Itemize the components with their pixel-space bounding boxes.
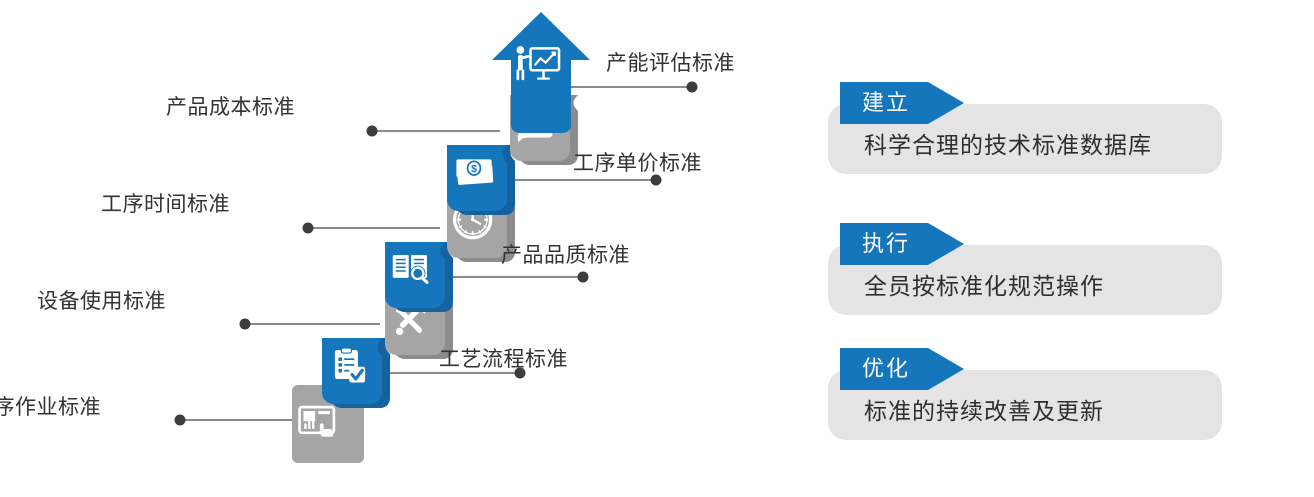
- step-label-product-cost: 产品成本标准: [166, 97, 295, 118]
- card-establish-tab: 建立: [840, 82, 964, 124]
- card-optimize-tab: 优化: [840, 348, 964, 390]
- step-label-process-flow: 工艺流程标准: [439, 349, 568, 370]
- card-establish-text: 科学合理的技术标准数据库: [864, 134, 1152, 157]
- step-label-process-unit-price: 工序单价标准: [573, 153, 702, 174]
- step-label-product-quality: 产品品质标准: [501, 245, 630, 266]
- card-establish-tab-label: 建立: [840, 82, 932, 124]
- card-execute-text: 全员按标准化规范操作: [864, 275, 1104, 298]
- step-block-product-quality: [385, 242, 453, 312]
- step-label-capacity-evaluation: 产能评估标准: [606, 53, 735, 74]
- card-optimize-tab-label: 优化: [840, 348, 932, 390]
- step-label-process-operation: 工序作业标准: [0, 397, 101, 418]
- step-label-process-time: 工序时间标准: [101, 194, 230, 215]
- phases-panel: 建立 科学合理的技术标准数据库 执行 全员按标准化规范操作 优化 标准的持续改善…: [828, 0, 1314, 497]
- standards-staircase-diagram: $: [0, 0, 800, 497]
- step-block-process-unit-price: [447, 145, 515, 215]
- card-optimize-text: 标准的持续改善及更新: [864, 400, 1104, 423]
- card-execute-tab: 执行: [840, 223, 964, 265]
- card-execute-tab-label: 执行: [840, 223, 932, 265]
- step-label-equipment-usage: 设备使用标准: [37, 291, 166, 312]
- step-block-process-flow: [322, 338, 390, 408]
